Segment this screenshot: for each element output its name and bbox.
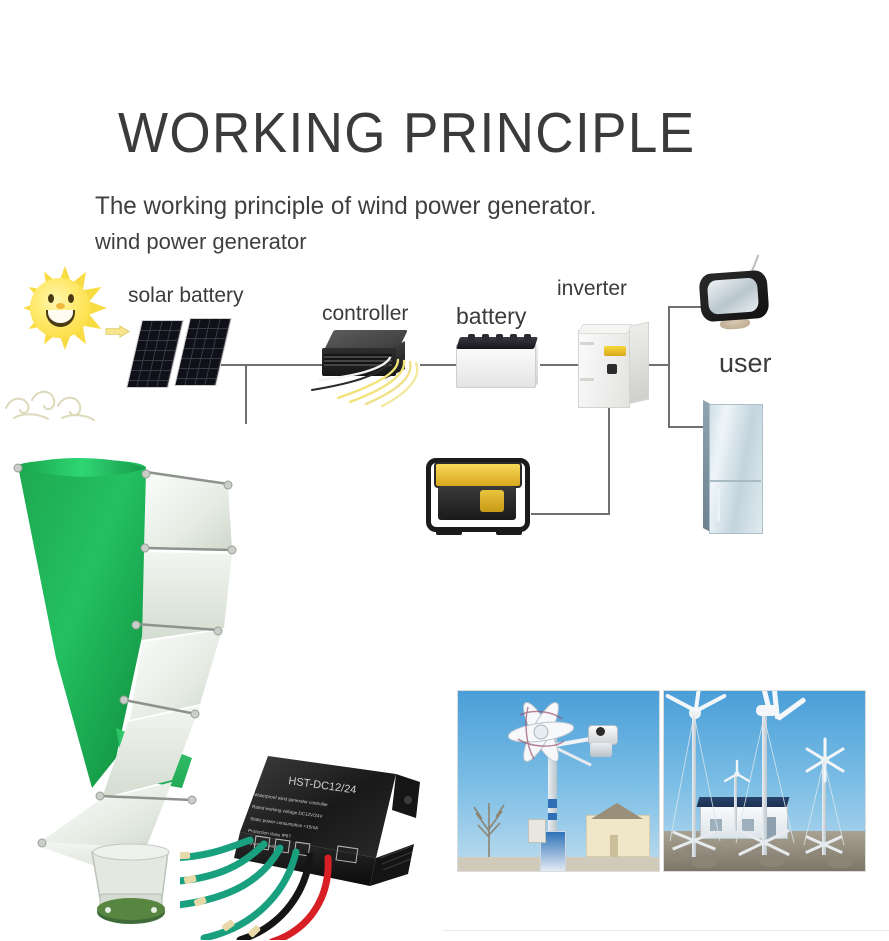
label-solar-battery: solar battery bbox=[128, 284, 244, 308]
refrigerator-graphic bbox=[703, 400, 767, 534]
guy-wires bbox=[664, 691, 865, 871]
controller-wire-bundle bbox=[294, 352, 444, 410]
line-generator-riser bbox=[608, 408, 610, 515]
bare-tree-icon bbox=[466, 795, 512, 857]
wind-swirl-doodle-icon bbox=[2, 378, 107, 424]
page-subtitle-secondary: wind power generator bbox=[95, 229, 307, 255]
solar-panel-graphic bbox=[130, 318, 238, 390]
line-bus-to-fridge bbox=[668, 426, 708, 428]
page-subtitle: The working principle of wind power gene… bbox=[95, 192, 596, 221]
photo-vertical-turbine-pole bbox=[457, 690, 660, 872]
line-bus-to-tv bbox=[668, 306, 704, 308]
generator-graphic bbox=[424, 452, 536, 538]
line-generator-to-riser bbox=[531, 513, 610, 515]
sun-ray-arrow-icon bbox=[104, 325, 132, 338]
line-user-bus bbox=[668, 306, 670, 428]
controller-product-image: HST-DC12/24 Waterproof wind generator co… bbox=[180, 740, 430, 940]
line-bus-to-turbine bbox=[245, 364, 247, 424]
television-graphic bbox=[700, 272, 776, 334]
page-title: WORKING PRINCIPLE bbox=[118, 100, 695, 166]
sun-icon bbox=[8, 258, 112, 358]
photo-wind-farm bbox=[663, 690, 866, 872]
battery-graphic bbox=[456, 332, 542, 388]
label-controller: controller bbox=[322, 302, 408, 326]
label-user: user bbox=[719, 348, 772, 379]
label-battery: battery bbox=[456, 303, 526, 330]
poster-root: WORKING PRINCIPLE The working principle … bbox=[0, 0, 889, 941]
bottom-hairline bbox=[443, 930, 889, 931]
label-inverter: inverter bbox=[557, 277, 627, 301]
vertical-axis-rotor-icon bbox=[502, 695, 580, 769]
inverter-graphic bbox=[578, 320, 652, 410]
